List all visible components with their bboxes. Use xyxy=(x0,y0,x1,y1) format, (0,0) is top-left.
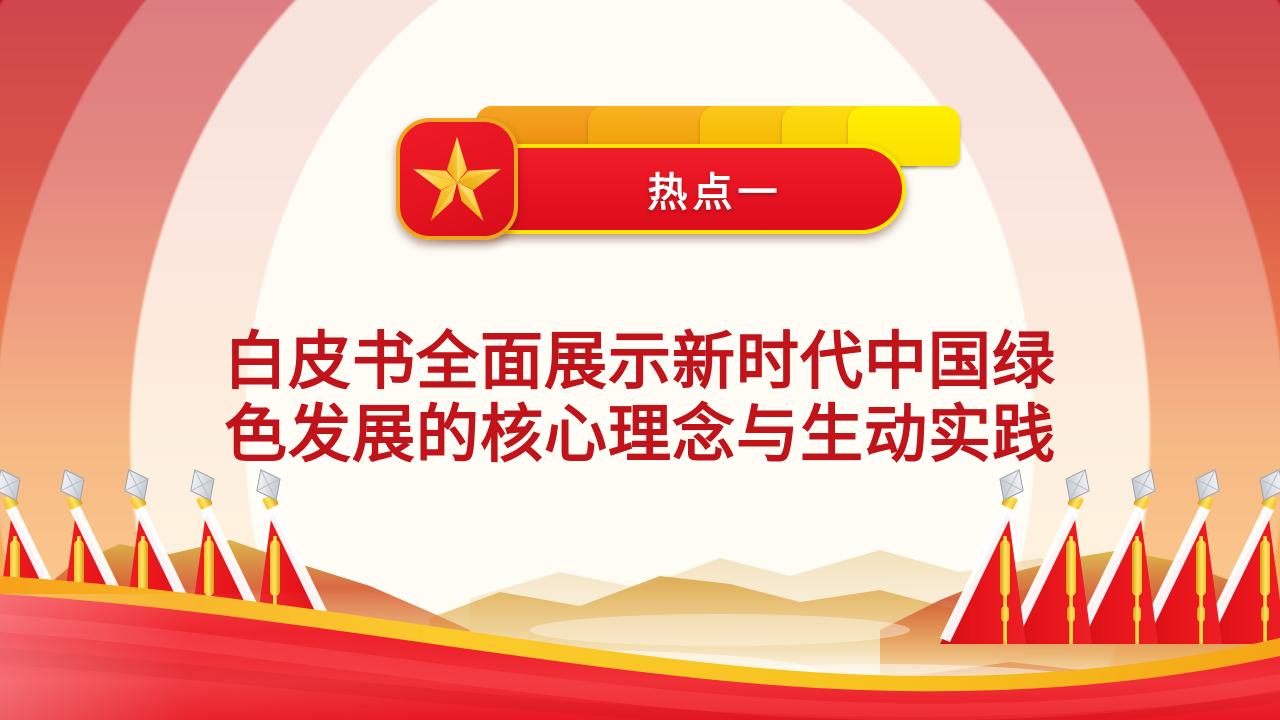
five-point-star-icon xyxy=(411,135,503,223)
banner-label: 热点一 xyxy=(550,148,880,230)
hotspot-banner[interactable]: 热点一 xyxy=(396,98,912,246)
red-silk-ribbon xyxy=(0,540,1280,720)
presentation-slide: 热点一 xyxy=(0,0,1280,720)
star-badge xyxy=(396,118,518,240)
